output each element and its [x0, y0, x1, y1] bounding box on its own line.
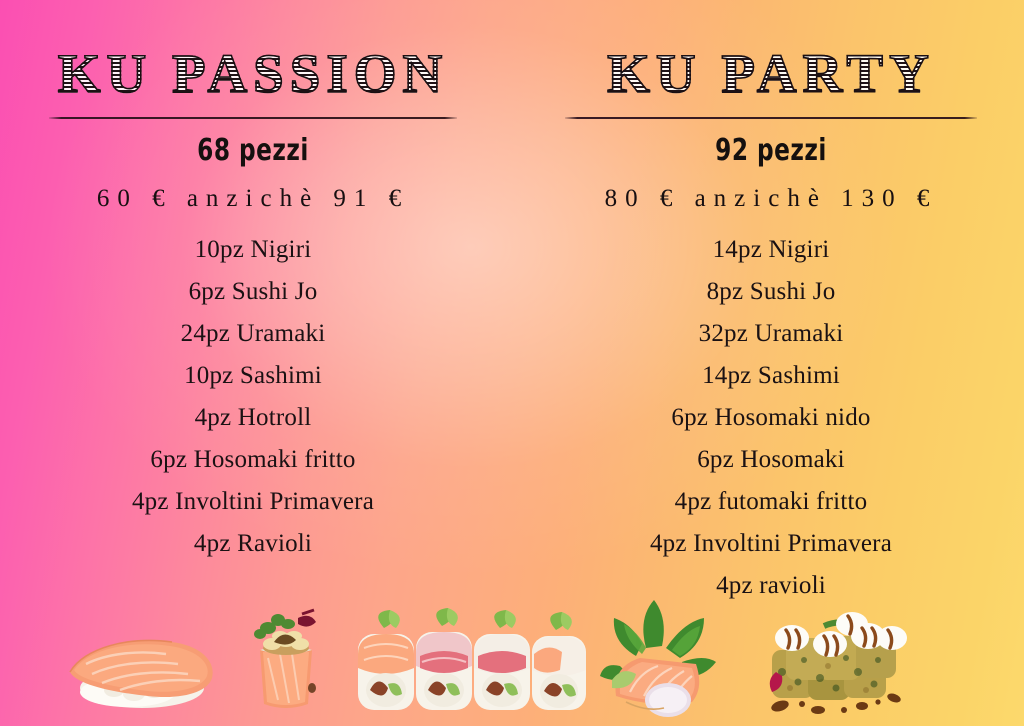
- menu-title-ku-passion: KU PASSION: [14, 46, 492, 101]
- list-item: 4pz Hotroll: [14, 397, 492, 439]
- menu-column-ku-passion: KU PASSION 68 pezzi 60 € anzichè 91 € 10…: [0, 0, 512, 726]
- menu-items-ku-passion: 10pz Nigiri 6pz Sushi Jo 24pz Uramaki 10…: [14, 229, 492, 565]
- list-item: 4pz futomaki fritto: [532, 481, 1010, 523]
- list-item: 6pz Hosomaki nido: [532, 397, 1010, 439]
- title-divider-left: [49, 117, 457, 119]
- list-item: 4pz Involtini Primavera: [532, 523, 1010, 565]
- list-item: 24pz Uramaki: [14, 313, 492, 355]
- list-item: 32pz Uramaki: [532, 313, 1010, 355]
- menu-title-ku-party: KU PARTY: [532, 46, 1010, 101]
- list-item: 8pz Sushi Jo: [532, 271, 1010, 313]
- list-item: 6pz Hosomaki: [532, 439, 1010, 481]
- menu-pieces-ku-passion: 68 pezzi: [31, 132, 476, 167]
- title-divider-right: [565, 117, 977, 119]
- menu-column-ku-party: KU PARTY 92 pezzi 80 € anzichè 130 € 14p…: [512, 0, 1024, 726]
- list-item: 10pz Nigiri: [14, 229, 492, 271]
- list-item: 10pz Sashimi: [14, 355, 492, 397]
- menu-pieces-ku-party: 92 pezzi: [549, 132, 994, 167]
- list-item: 6pz Sushi Jo: [14, 271, 492, 313]
- menu-price-ku-passion: 60 € anzichè 91 €: [14, 185, 492, 213]
- list-item: 4pz Ravioli: [14, 523, 492, 565]
- menu-columns: KU PASSION 68 pezzi 60 € anzichè 91 € 10…: [0, 0, 1024, 726]
- list-item: 4pz Involtini Primavera: [14, 481, 492, 523]
- menu-items-ku-party: 14pz Nigiri 8pz Sushi Jo 32pz Uramaki 14…: [532, 229, 1010, 607]
- menu-price-ku-party: 80 € anzichè 130 €: [532, 185, 1010, 213]
- sushi-menu-poster: KU PASSION 68 pezzi 60 € anzichè 91 € 10…: [0, 0, 1024, 726]
- list-item: 14pz Sashimi: [532, 355, 1010, 397]
- list-item: 6pz Hosomaki fritto: [14, 439, 492, 481]
- list-item: 4pz ravioli: [532, 565, 1010, 607]
- list-item: 14pz Nigiri: [532, 229, 1010, 271]
